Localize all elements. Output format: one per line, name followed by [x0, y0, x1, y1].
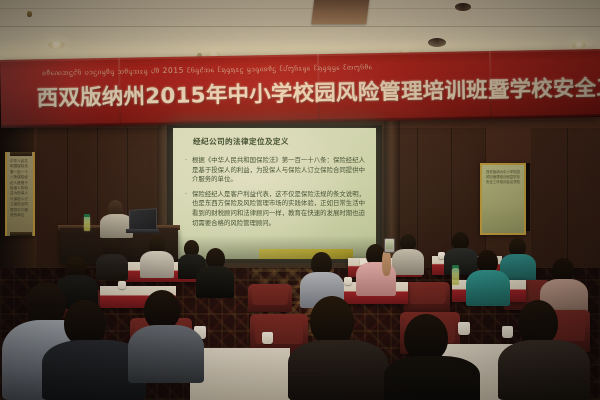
sprinkler-head	[27, 11, 32, 17]
attendee-torso	[128, 325, 204, 383]
tea-cup	[118, 281, 126, 289]
tea-cup	[502, 326, 513, 338]
scroll-rod-top	[10, 152, 32, 156]
attendee-torso	[96, 254, 128, 280]
ceiling-vent	[311, 0, 369, 24]
ceiling-speaker-grille	[455, 3, 471, 11]
attendee-raised-arm	[382, 250, 391, 276]
ceiling-seam	[0, 8, 600, 9]
mobile-phone	[384, 238, 395, 253]
bullet-marker-icon: ·	[185, 190, 192, 228]
water-bottle	[452, 268, 459, 285]
attendee-head	[310, 296, 354, 346]
slide-bullet-text: 根据《中华人民共和国保险法》第一百一十八条：保险经纪人是基于投保人的利益，为投保…	[192, 156, 365, 185]
chair	[248, 284, 292, 312]
wall-notice-right: 西双版纳州中小学校园风险管理培训班暨学校安全工作培训会议须知	[480, 163, 526, 235]
water-bottle	[84, 216, 90, 231]
tea-cup	[344, 277, 352, 285]
scroll-rod-bottom	[10, 232, 32, 236]
bottle-cap	[84, 214, 90, 217]
attendee-head	[404, 314, 448, 362]
slide-bullet: · 保险经纪人是客户利益代表，这不仅是保险法规的条文说明，也是东西方保险及风险管…	[185, 190, 365, 228]
ceiling-seam	[0, 26, 600, 27]
conference-room-photo: ᦈᦹᧈᦶᦉᧃᦺᦑ ᦢᦱᧃᦵᦙᦲᧂ ᦉᦲᧇᦉᦸᧂ ᦔᦲ 2015 ᦷᦑᧂᦺᦘᧈ ᦷ…	[0, 0, 600, 400]
slide-bullet-text: 保险经纪人是客户利益代表，这不仅是保险法规的条文说明，也是东西方保险及风险管理市…	[192, 190, 365, 228]
wall-panel	[566, 128, 600, 278]
attendee-torso	[444, 248, 478, 275]
attendee-torso	[498, 340, 590, 400]
slide-title: 经纪公司的法律定位及定义	[193, 136, 289, 147]
wall-scroll-left: 中华人民共和国保险法第一百一十八条保险经纪人是基于投保人的利益为投保人与保险人订…	[5, 152, 35, 236]
tea-cup	[458, 322, 470, 335]
attendee-torso	[196, 266, 234, 298]
attendee-torso	[466, 270, 510, 306]
screen-bottom-shadow	[173, 235, 376, 259]
attendee-table	[190, 348, 290, 400]
event-banner: ᦈᦹᧈᦶᦉᧃᦺᦑ ᦢᦱᧃᦵᦙᦲᧂ ᦉᦲᧇᦉᦸᧂ ᦔᦲ 2015 ᦷᦑᧂᦺᦘᧈ ᦷ…	[0, 49, 600, 128]
bullet-marker-icon: ·	[185, 156, 192, 185]
slide-bullet: · 根据《中华人民共和国保险法》第一百一十八条：保险经纪人是基于投保人的利益，为…	[185, 156, 365, 185]
attendee-torso	[288, 340, 388, 400]
attendee-torso	[384, 356, 480, 400]
tea-cup	[262, 332, 273, 344]
slide-body: · 根据《中华人民共和国保险法》第一百一十八条：保险经纪人是基于投保人的利益，为…	[185, 156, 365, 233]
presenter-laptop-base	[126, 229, 159, 233]
phone-screen	[386, 240, 393, 249]
attendee-head	[144, 290, 180, 330]
attendee-torso	[140, 251, 174, 278]
chair	[404, 282, 450, 312]
bottle-cap	[452, 265, 459, 268]
wall-panel	[530, 128, 568, 278]
wall-scroll-text: 中华人民共和国保险法第一百一十八条保险经纪人是基于投保人的利益为投保人与保险人订…	[10, 159, 30, 218]
attendee-torso	[392, 249, 424, 275]
projection-screen: 经纪公司的法律定位及定义 · 根据《中华人民共和国保险法》第一百一十八条：保险经…	[173, 128, 376, 259]
wall-notice-text: 西双版纳州中小学校园风险管理培训班暨学校安全工作培训会议须知	[485, 170, 521, 186]
